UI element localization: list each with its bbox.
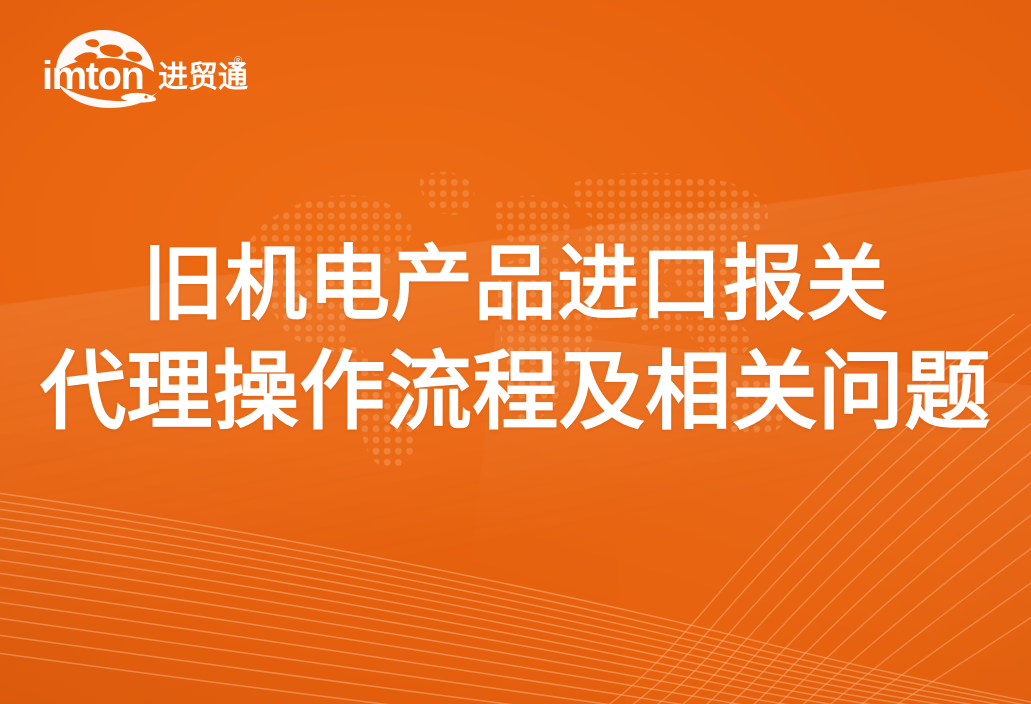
title-line-2: 代理操作流程及相关问题 [0,337,1031,447]
page-title: 旧机电产品进口报关 代理操作流程及相关问题 [0,233,1031,447]
logo-wordmark-latin: imton [42,54,143,98]
title-line-1: 旧机电产品进口报关 [0,233,1031,337]
poster-banner: imton 进贸通 ® 旧机电产品进口报关 代理操作流程及相关问题 [0,0,1031,704]
imton-logo[interactable]: imton 进贸通 ® [38,26,248,110]
registered-trademark-symbol: ® [234,55,242,67]
